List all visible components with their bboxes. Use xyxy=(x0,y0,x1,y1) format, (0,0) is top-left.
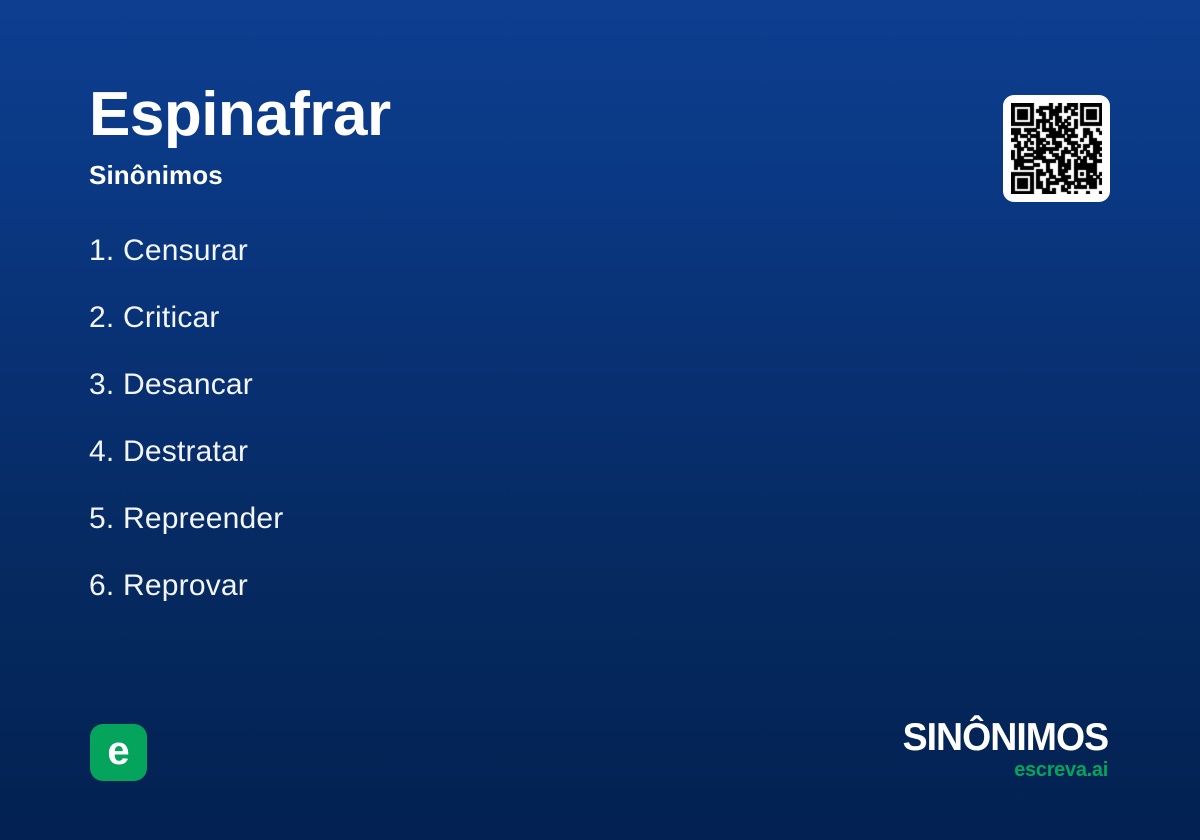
list-item-index: 2. xyxy=(89,301,123,335)
list-item-label: Criticar xyxy=(123,301,220,335)
page-subtitle: Sinônimos xyxy=(89,160,391,191)
page-title: Espinafrar xyxy=(89,84,391,146)
synonym-list: 1.Censurar2.Criticar3.Desancar4.Destrata… xyxy=(89,234,283,636)
list-item-index: 6. xyxy=(89,569,123,603)
list-item: 4.Destratar xyxy=(89,435,283,502)
qr-code-image xyxy=(1011,103,1102,194)
brand-logo-title: SINÔNIMOS xyxy=(902,718,1108,757)
list-item-label: Desancar xyxy=(123,368,253,402)
list-item-label: Repreender xyxy=(123,502,283,536)
synonym-card: Espinafrar Sinônimos 1.Censurar2.Critica… xyxy=(0,0,1200,840)
list-item-index: 4. xyxy=(89,435,123,469)
brand-logo-subtitle: escreva.ai xyxy=(894,760,1108,780)
header: Espinafrar Sinônimos xyxy=(89,84,391,191)
brand-badge-letter: e xyxy=(107,731,129,771)
list-item: 6.Reprovar xyxy=(89,569,283,636)
list-item-index: 5. xyxy=(89,502,123,536)
list-item-index: 3. xyxy=(89,368,123,402)
qr-code[interactable] xyxy=(1003,95,1110,202)
brand-logo: SINÔNIMOS escreva.ai xyxy=(894,718,1108,780)
list-item-label: Reprovar xyxy=(123,569,248,603)
list-item-label: Destratar xyxy=(123,435,248,469)
list-item: 2.Criticar xyxy=(89,301,283,368)
list-item: 3.Desancar xyxy=(89,368,283,435)
list-item: 1.Censurar xyxy=(89,234,283,301)
list-item-index: 1. xyxy=(89,234,123,268)
brand-badge: e xyxy=(90,724,147,781)
list-item-label: Censurar xyxy=(123,234,248,268)
list-item: 5.Repreender xyxy=(89,502,283,569)
